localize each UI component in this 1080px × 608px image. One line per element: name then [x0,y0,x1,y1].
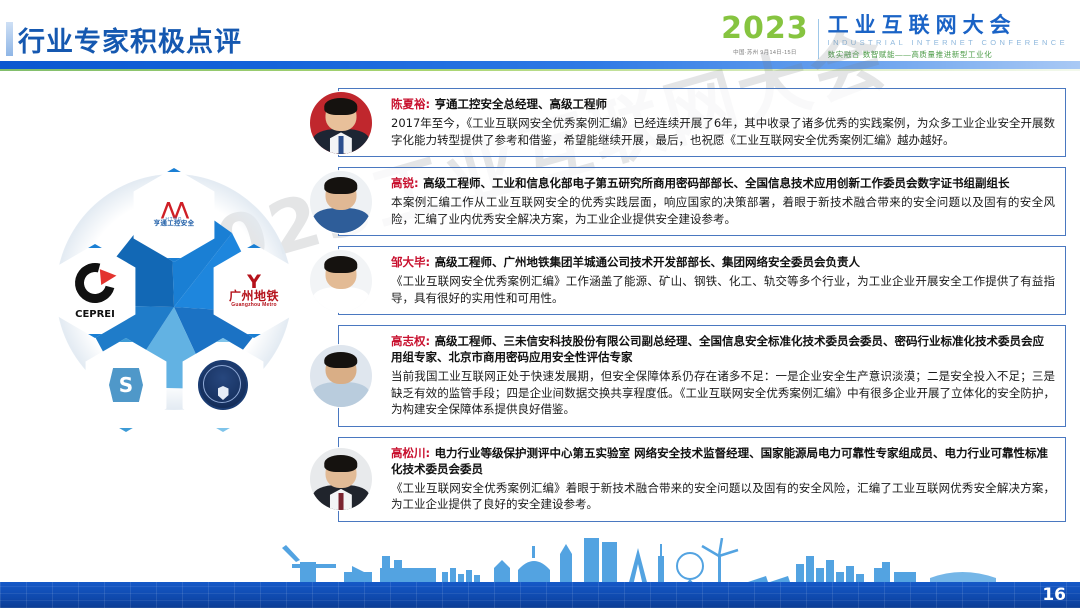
avatar [309,344,373,408]
expert-card: 高松川: 电力行业等级保护测评中心第五实验室 网络安全技术监督经理、国家能源局电… [338,437,1066,522]
expert-comment-text: 《工业互联网安全优秀案例汇编》工作涵盖了能源、矿山、钢铁、化工、轨交等多个行业，… [391,273,1055,306]
expert-heading: 陈夏裕: 亨通工控安全总经理、高级工程师 [391,96,1055,112]
htgg-mark-icon: ⋀⋀ [154,203,195,217]
expert-comment-text: 2017年至今，《工业互联网安全优秀案例汇编》已经连续开展了6年，其中收录了诸多… [391,115,1055,148]
conference-slogan: 数实融合 数智赋能——高质量推进新型工业化 [828,49,1068,60]
avatar [309,447,373,511]
avatar [309,249,373,313]
expert-heading: 高志权: 高级工程师、三未信安科技股份有限公司副总经理、全国信息安全标准化技术委… [391,333,1055,365]
footer-grid-pattern [0,582,1080,608]
page-footer: 16 [0,538,1080,608]
ceprei-c-icon [75,263,115,303]
expert-name: 邹大毕: [391,255,430,269]
expert-card: 陈夏裕: 亨通工控安全总经理、高级工程师 2017年至今，《工业互联网安全优秀案… [338,88,1066,157]
expert-role: 高级工程师、三未信安科技股份有限公司副总经理、全国信息安全标准化技术委员会委员、… [391,334,1044,364]
expert-card: 高锐: 高级工程师、工业和信息化部电子第五研究所商用密码部部长、全国信息技术应用… [338,167,1066,236]
avatar [309,91,373,155]
metro-cn-label: 广州地铁 [229,290,279,303]
expert-name: 高松川: [391,446,430,460]
expert-role: 高级工程师、广州地铁集团羊城通公司技术开发部部长、集团网络安全委员会负责人 [435,255,861,269]
metro-en-label: Guangzhou Metro [229,303,279,308]
page-number: 16 [1042,585,1066,605]
expert-card: 邹大毕: 高级工程师、广州地铁集团羊城通公司技术开发部部长、集团网络安全委员会负… [338,246,1066,315]
expert-name: 陈夏裕: [391,97,430,111]
power-emblem-icon [198,360,248,410]
conference-year: 2023 [721,14,809,44]
expert-name: 高志权: [391,334,430,348]
metro-y-icon: Y [229,274,279,290]
page-header: 行业专家积极点评 2023 中国·苏州 9月14日-15日 工业互联网大会 IN… [0,0,1080,76]
expert-comment-text: 《工业互联网安全优秀案例汇编》着眼于新技术融合带来的安全问题以及固有的安全风险，… [391,480,1055,513]
expert-role: 高级工程师、工业和信息化部电子第五研究所商用密码部部长、全国信息技术应用创新工作… [423,176,1010,190]
conference-logo-name-block: 工业互联网大会 INDUSTRIAL INTERNET CONFERENCE 数… [819,14,1068,60]
expert-role: 亨通工控安全总经理、高级工程师 [435,97,608,111]
ceprei-label: CEPREI [75,309,115,320]
conference-name-en: INDUSTRIAL INTERNET CONFERENCE [828,38,1068,47]
sansec-s-icon: S [109,368,143,402]
conference-place-date: 中国·苏州 9月14日-15日 [733,48,797,56]
page-title: 行业专家积极点评 [18,20,242,59]
partner-logo-pentagon: ⋀⋀ HTGG 亨通工控安全 Y 广州地铁 Guangzhou Metro S … [24,162,324,442]
expert-heading: 高松川: 电力行业等级保护测评中心第五实验室 网络安全技术监督经理、国家能源局电… [391,445,1055,477]
header-rule-green [0,69,1080,71]
conference-logo-year-block: 2023 中国·苏州 9月14日-15日 [721,14,818,56]
htgg-cn-label: 亨通工控安全 [154,221,195,228]
expert-role: 电力行业等级保护测评中心第五实验室 网络安全技术监督经理、国家能源局电力可靠性专… [391,446,1048,476]
expert-comment-text: 当前我国工业互联网正处于快速发展期，但安全保障体系仍存在诸多不足：一是企业安全生… [391,368,1055,418]
expert-heading: 高锐: 高级工程师、工业和信息化部电子第五研究所商用密码部部长、全国信息技术应用… [391,175,1055,191]
title-accent-bar [6,22,13,56]
conference-name-cn: 工业互联网大会 [828,14,1068,37]
expert-comment-text: 本案例汇编工作从工业互联网安全的优秀实践层面，响应国家的决策部署，着眼于新技术融… [391,194,1055,227]
expert-name: 高锐: [391,176,419,190]
expert-comment-list: 陈夏裕: 亨通工控安全总经理、高级工程师 2017年至今，《工业互联网安全优秀案… [338,88,1066,532]
industrial-skyline-graphic [0,538,1080,586]
avatar [309,170,373,234]
expert-card: 高志权: 高级工程师、三未信安科技股份有限公司副总经理、全国信息安全标准化技术委… [338,325,1066,427]
expert-heading: 邹大毕: 高级工程师、广州地铁集团羊城通公司技术开发部部长、集团网络安全委员会负… [391,254,1055,270]
header-rule-blue [0,61,1080,69]
